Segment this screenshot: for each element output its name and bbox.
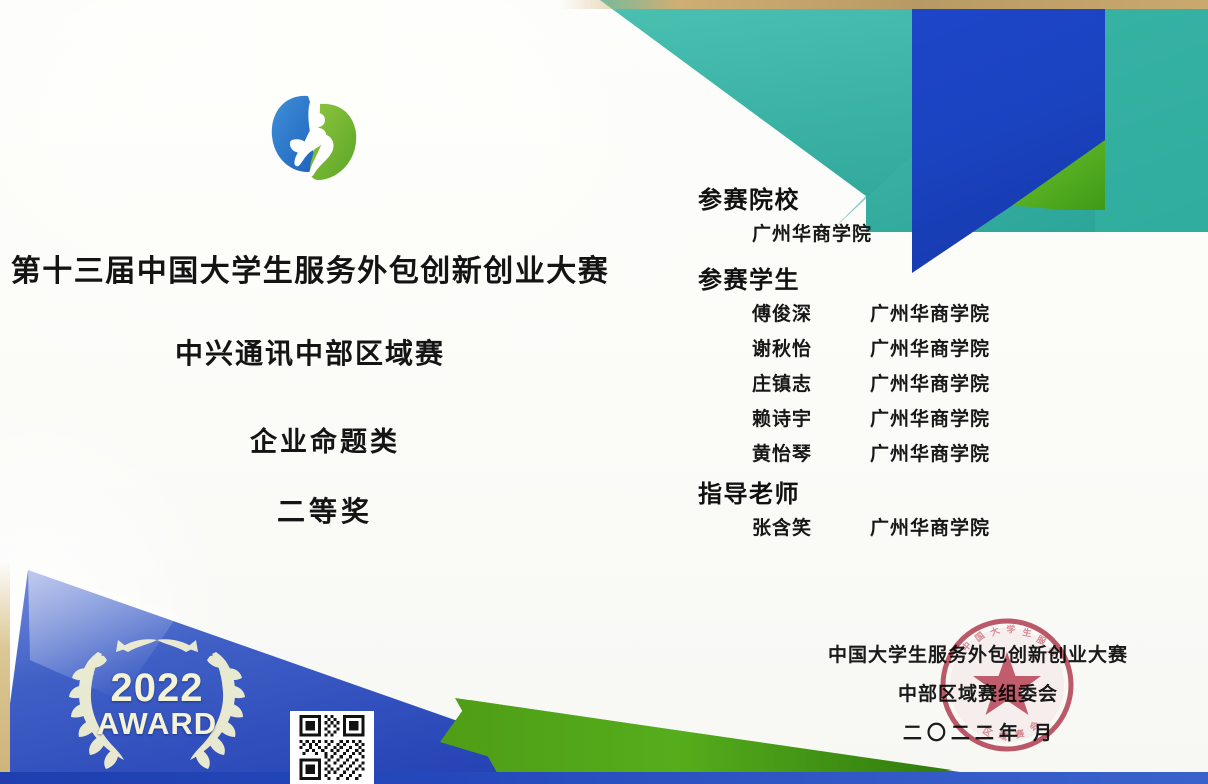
student-row: 赖诗宇 广州华商学院 <box>698 404 1078 431</box>
students-list: 傅俊深 广州华商学院 谢秋怡 广州华商学院 庄镇志 广州华商学院 赖诗宇 广州华… <box>698 299 1078 466</box>
student-name: 傅俊深 <box>752 299 870 326</box>
school-heading: 参赛院校 <box>698 180 1078 215</box>
teacher-name: 张含笑 <box>752 513 870 540</box>
competition-title: 第十三届中国大学生服务外包创新创业大赛 <box>0 246 620 290</box>
official-red-seal-icon: 中 国 大 学 生 服 务 区 域 赛 会 <box>938 616 1076 754</box>
student-school: 广州华商学院 <box>870 404 990 431</box>
teacher-school: 广州华商学院 <box>870 513 990 540</box>
student-school: 广州华商学院 <box>870 439 990 466</box>
student-name: 黄怡琴 <box>752 439 870 466</box>
laurel-wreath-icon <box>58 626 256 784</box>
students-heading: 参赛学生 <box>698 260 1078 295</box>
student-name: 赖诗宇 <box>752 404 870 431</box>
student-row: 庄镇志 广州华商学院 <box>698 369 1078 396</box>
svg-text:生: 生 <box>1022 626 1033 638</box>
teachers-list: 张含笑 广州华商学院 <box>698 513 1078 540</box>
student-school: 广州华商学院 <box>870 299 990 326</box>
certificate-page: 第十三届中国大学生服务外包创新创业大赛 中兴通讯中部区域赛 企业命题类 二等奖 … <box>0 0 1208 784</box>
top-gold-edge <box>560 0 1208 9</box>
student-name: 庄镇志 <box>752 369 870 396</box>
student-school: 广州华商学院 <box>870 334 990 361</box>
verification-qr-code[interactable] <box>290 711 374 784</box>
left-gold-edge <box>0 560 10 784</box>
school-name: 广州华商学院 <box>698 219 1078 246</box>
teacher-row: 张含笑 广州华商学院 <box>698 513 1078 540</box>
award-emblem: 2022 AWARD <box>58 626 256 784</box>
competition-logo-icon <box>262 88 366 188</box>
award-category: 企业命题类 <box>0 420 650 459</box>
student-row: 谢秋怡 广州华商学院 <box>698 334 1078 361</box>
participant-info-panel: 参赛院校 广州华商学院 参赛学生 傅俊深 广州华商学院 谢秋怡 广州华商学院 庄… <box>698 180 1078 548</box>
student-school: 广州华商学院 <box>870 369 990 396</box>
student-row: 傅俊深 广州华商学院 <box>698 299 1078 326</box>
teachers-heading: 指导老师 <box>698 474 1078 509</box>
student-name: 谢秋怡 <box>752 334 870 361</box>
competition-subtitle: 中兴通讯中部区域赛 <box>0 332 620 372</box>
award-level: 二等奖 <box>0 490 650 530</box>
student-row: 黄怡琴 广州华商学院 <box>698 439 1078 466</box>
svg-text:学: 学 <box>1006 623 1016 635</box>
qr-code-icon <box>294 715 370 780</box>
title-block: 第十三届中国大学生服务外包创新创业大赛 中兴通讯中部区域赛 <box>0 246 620 372</box>
